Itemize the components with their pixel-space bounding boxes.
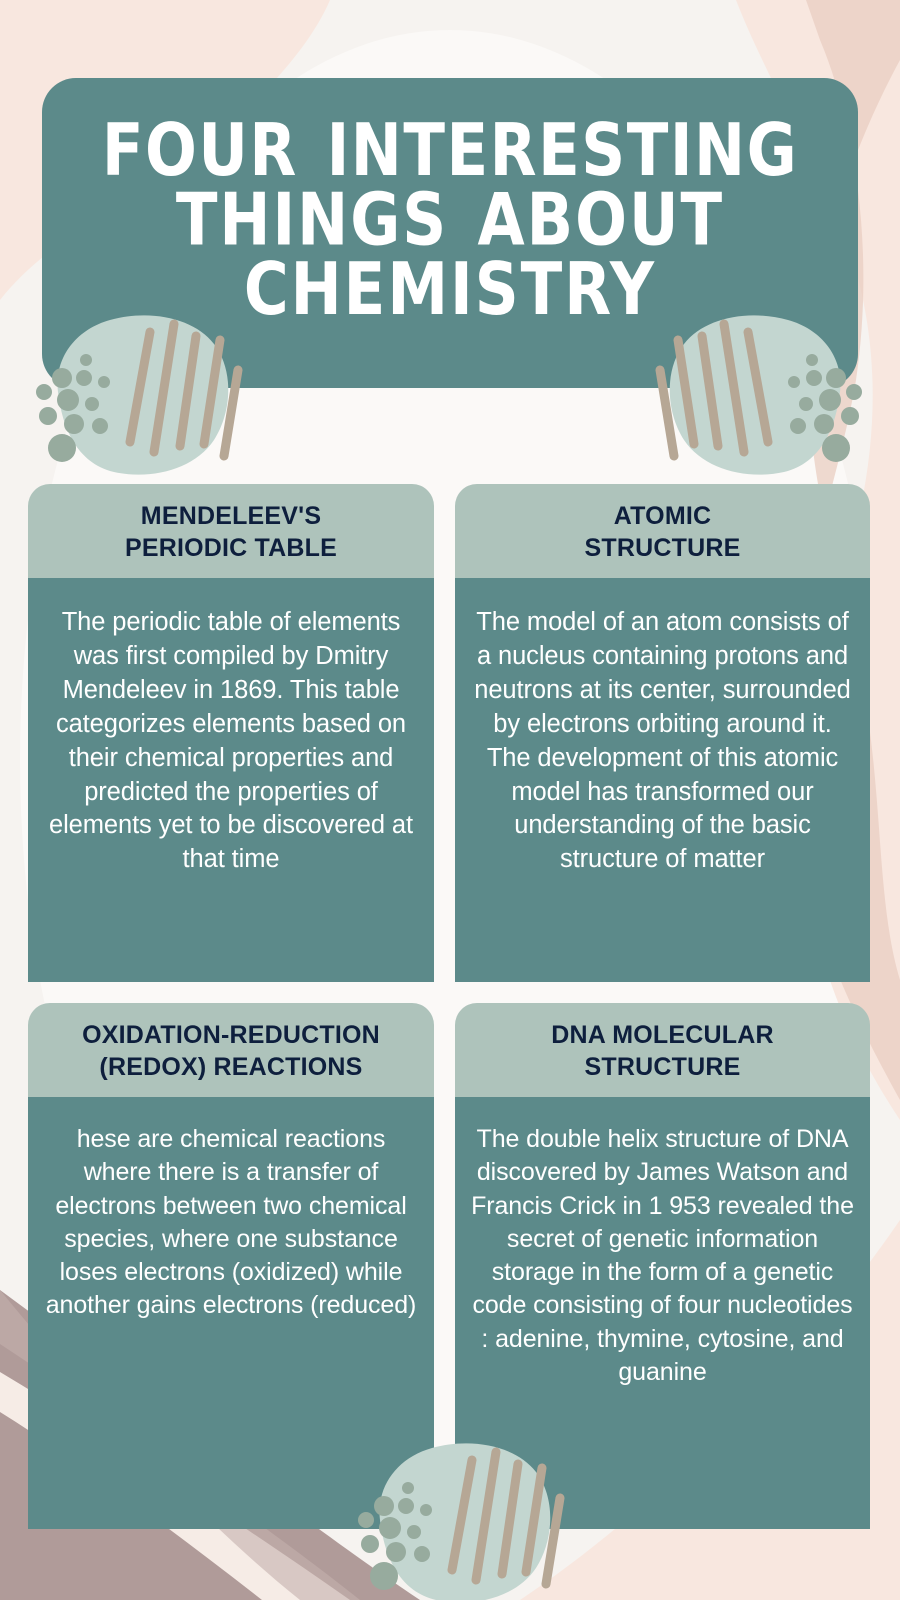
fact-card-atomic: ATOMIC STRUCTURE The model of an atom co… xyxy=(455,484,870,982)
heading-line-2: PERIODIC TABLE xyxy=(125,534,337,562)
fact-card-body-mendeleev: The periodic table of elements was first… xyxy=(28,578,434,982)
heading-line-2: STRUCTURE xyxy=(585,534,741,562)
heading-line-1: MENDELEEV'S xyxy=(141,502,321,530)
fact-card-mendeleev: MENDELEEV'S PERIODIC TABLE The periodic … xyxy=(28,484,434,982)
fact-cards-grid: MENDELEEV'S PERIODIC TABLE The periodic … xyxy=(0,0,900,1600)
fact-card-heading-mendeleev: MENDELEEV'S PERIODIC TABLE xyxy=(40,500,422,564)
fact-card-text-mendeleev: The periodic table of elements was first… xyxy=(42,606,420,877)
fact-card-header-atomic: ATOMIC STRUCTURE xyxy=(455,484,870,578)
fact-card-heading-atomic: ATOMIC STRUCTURE xyxy=(467,500,858,564)
fact-card-header-mendeleev: MENDELEEV'S PERIODIC TABLE xyxy=(28,484,434,578)
fact-card-body-dna: The double helix structure of DNA discov… xyxy=(455,1097,870,1529)
infographic-poster: Four Interesting Things About Chemistry xyxy=(0,0,900,1600)
fact-card-dna: DNA MOLECULAR STRUCTURE The double helix… xyxy=(455,1003,870,1529)
fact-card-text-redox: hese are chemical reactions where there … xyxy=(42,1123,420,1323)
fact-card-body-redox: hese are chemical reactions where there … xyxy=(28,1097,434,1529)
fact-card-redox: OXIDATION-REDUCTION (REDOX) REACTIONS he… xyxy=(28,1003,434,1529)
fact-card-heading-dna: DNA MOLECULAR STRUCTURE xyxy=(467,1019,858,1083)
heading-line-1: ATOMIC xyxy=(614,502,712,530)
fact-card-header-redox: OXIDATION-REDUCTION (REDOX) REACTIONS xyxy=(28,1003,434,1097)
heading-line-1: DNA MOLECULAR xyxy=(551,1021,774,1049)
heading-line-2: STRUCTURE xyxy=(585,1053,741,1081)
heading-line-1: OXIDATION-REDUCTION xyxy=(82,1021,380,1049)
fact-card-header-dna: DNA MOLECULAR STRUCTURE xyxy=(455,1003,870,1097)
fact-card-heading-redox: OXIDATION-REDUCTION (REDOX) REACTIONS xyxy=(40,1019,422,1083)
fact-card-text-atomic: The model of an atom consists of a nucle… xyxy=(469,606,856,877)
heading-line-2: (REDOX) REACTIONS xyxy=(99,1053,362,1081)
fact-card-text-dna: The double helix structure of DNA discov… xyxy=(469,1123,856,1389)
fact-card-body-atomic: The model of an atom consists of a nucle… xyxy=(455,578,870,982)
